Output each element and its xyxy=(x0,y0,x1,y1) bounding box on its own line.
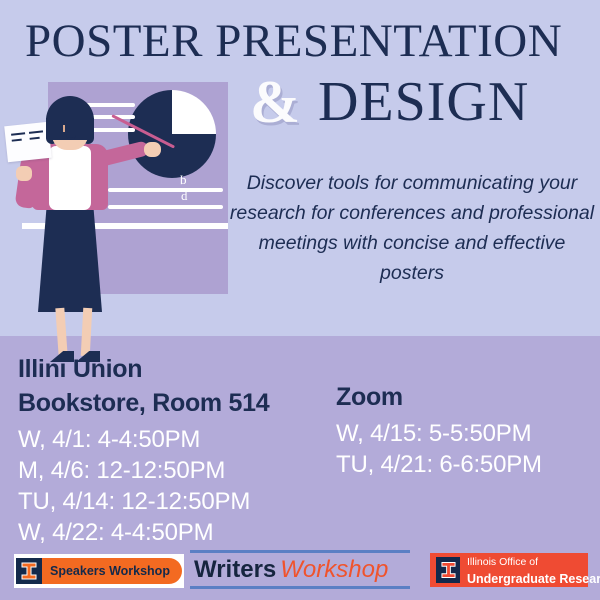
writers-workshop-label: WritersWorkshop xyxy=(190,553,410,586)
logo-writers-workshop: WritersWorkshop xyxy=(190,550,410,589)
writers-word: Writers xyxy=(194,556,276,583)
undergrad-research-line: Undergraduate Research xyxy=(467,572,600,586)
board-glyph: q xyxy=(180,174,187,190)
schedule-column-zoom: Zoom W, 4/15: 5-5:50PM TU, 4/21: 6-6:50P… xyxy=(336,380,596,480)
session-time-list: W, 4/1: 4-4:50PM M, 4/6: 12-12:50PM TU, … xyxy=(18,424,338,548)
figure-leg-right xyxy=(81,308,92,356)
speakers-workshop-label: Speakers Workshop xyxy=(50,564,170,578)
ampersand-glyph: & xyxy=(250,69,300,135)
schedule-column-in-person: Illini Union Bookstore, Room 514 W, 4/1:… xyxy=(18,352,338,548)
page-title: POSTER PRESENTATION xyxy=(25,16,585,66)
speakers-badge: Speakers Workshop xyxy=(16,558,182,584)
board-line xyxy=(108,205,223,209)
undergrad-research-text: Illinois Office of Undergraduate Researc… xyxy=(467,552,600,588)
session-time: M, 4/6: 12-12:50PM xyxy=(18,455,338,486)
logo-undergraduate-research: Illinois Office of Undergraduate Researc… xyxy=(430,553,588,587)
office-line: Illinois Office of xyxy=(467,556,538,568)
paper-icon xyxy=(4,122,52,162)
session-time: TU, 4/21: 6-6:50PM xyxy=(336,449,596,480)
figure-hand-right xyxy=(144,142,161,157)
figure-skirt xyxy=(38,202,102,312)
venue-name-line2: Bookstore, Room 514 xyxy=(18,386,338,420)
session-time: W, 4/15: 5-5:50PM xyxy=(336,418,596,449)
illinois-block-i-icon xyxy=(16,558,42,584)
figure-top xyxy=(49,146,91,210)
schedule-section: Illini Union Bookstore, Room 514 W, 4/1:… xyxy=(0,352,600,542)
figure-nose xyxy=(63,125,65,132)
poster-canvas: POSTER PRESENTATION &DESIGN Discover too… xyxy=(0,0,600,600)
figure-eye xyxy=(59,120,65,122)
figure-eye xyxy=(74,120,80,122)
venue-name-line1: Illini Union xyxy=(18,352,338,386)
illinois-block-i-icon xyxy=(436,557,460,583)
title-second-line: &DESIGN xyxy=(250,68,595,137)
presenter-illustration: q p xyxy=(0,70,240,370)
figure-leg-left xyxy=(55,308,67,357)
board-line xyxy=(108,188,223,192)
description-text: Discover tools for communicating your re… xyxy=(228,168,596,288)
venue-name-zoom: Zoom xyxy=(336,380,596,414)
session-time: W, 4/22: 4-4:50PM xyxy=(18,517,338,548)
workshop-word: Workshop xyxy=(280,556,388,583)
pie-chart-icon xyxy=(128,90,216,178)
board-glyph: p xyxy=(181,190,188,206)
rule-bottom xyxy=(190,586,410,589)
figure-hand-left xyxy=(16,166,32,181)
logo-speakers-workshop: Speakers Workshop xyxy=(14,554,184,588)
session-time: TU, 4/14: 12-12:50PM xyxy=(18,486,338,517)
title-design-word: DESIGN xyxy=(318,71,529,133)
session-time: W, 4/1: 4-4:50PM xyxy=(18,424,338,455)
session-time-list: W, 4/15: 5-5:50PM TU, 4/21: 6-6:50PM xyxy=(336,418,596,480)
footer-logos: Speakers Workshop WritersWorkshop Illino… xyxy=(0,548,600,600)
